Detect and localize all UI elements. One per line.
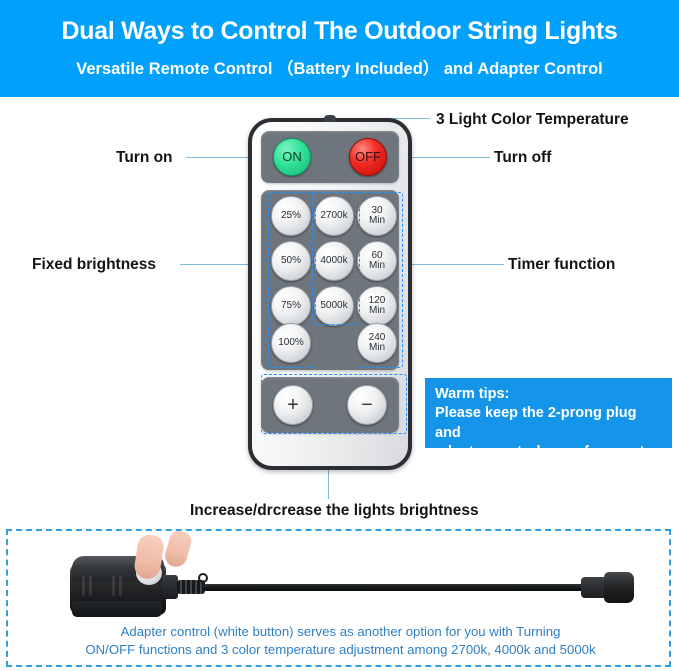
adapter-hang-loop: [198, 573, 208, 583]
timer-button-60min[interactable]: 60 Min: [357, 241, 397, 281]
warm-tips-line-2: adapter control away from water.: [435, 443, 663, 462]
callout-turn-on: Turn on: [116, 150, 173, 166]
timer-unit: Min: [369, 215, 385, 226]
callout-turn-off: Turn off: [494, 150, 551, 166]
adapter-rib: [112, 576, 115, 596]
callout-brightness-adjust: Increase/drcrease the lights brightness: [190, 503, 479, 519]
callout-fixed-brightness: Fixed brightness: [32, 257, 156, 273]
adapter-rib: [119, 576, 122, 596]
adapter-caption: Adapter control (white button) serves as…: [8, 623, 673, 659]
ir-emitter-icon: [324, 115, 336, 122]
warm-tips-box: Warm tips: Please keep the 2-prong plug …: [425, 378, 672, 448]
on-button[interactable]: ON: [273, 138, 311, 176]
adapter-cable: [203, 584, 601, 591]
adapter-rib: [82, 576, 85, 596]
finger-secondary: [162, 529, 193, 570]
adapter-section: Adapter control (white button) serves as…: [6, 529, 671, 667]
adapter-caption-line-1: Adapter control (white button) serves as…: [8, 623, 673, 641]
timer-unit: Min: [369, 305, 385, 316]
remote-control: ON OFF 25% 50% 75% 100% 2700k 4000k 5000…: [248, 118, 412, 470]
color-temp-button-5000k[interactable]: 5000k: [314, 286, 354, 326]
brightness-button-25[interactable]: 25%: [271, 196, 311, 236]
timer-button-240min[interactable]: 240 Min: [357, 323, 397, 363]
page-title: Dual Ways to Control The Outdoor String …: [0, 0, 679, 44]
header-banner: Dual Ways to Control The Outdoor String …: [0, 0, 679, 97]
adapter-cable-neck: [162, 575, 178, 599]
leader-line-timer-function: [400, 264, 504, 265]
increase-button[interactable]: +: [273, 385, 313, 425]
timer-unit: Min: [369, 260, 385, 271]
color-temp-button-2700k[interactable]: 2700k: [314, 196, 354, 236]
function-panel: 25% 50% 75% 100% 2700k 4000k 5000k 30 Mi…: [261, 190, 399, 370]
adapter-connector-plug: [604, 572, 634, 603]
brightness-button-75[interactable]: 75%: [271, 286, 311, 326]
callout-color-temperature: 3 Light Color Temperature: [436, 112, 629, 128]
warm-tips-heading: Warm tips:: [435, 385, 663, 404]
timer-button-30min[interactable]: 30 Min: [357, 196, 397, 236]
color-temp-button-4000k[interactable]: 4000k: [314, 241, 354, 281]
adapter-caption-line-2: ON/OFF functions and 3 color temperature…: [8, 641, 673, 659]
warm-tips-line-1: Please keep the 2-prong plug and: [435, 404, 663, 443]
adapter-rib: [89, 576, 92, 596]
power-panel: ON OFF: [261, 131, 399, 183]
brightness-button-50[interactable]: 50%: [271, 241, 311, 281]
callout-timer-function: Timer function: [508, 257, 615, 273]
adapter-photo: [48, 539, 648, 625]
off-button[interactable]: OFF: [349, 138, 387, 176]
timer-unit: Min: [369, 342, 385, 353]
adapter-base: [72, 601, 162, 617]
infographic-canvas: Dual Ways to Control The Outdoor String …: [0, 0, 679, 671]
brightness-button-100[interactable]: 100%: [271, 323, 311, 363]
page-subtitle: Versatile Remote Control （Battery Includ…: [0, 44, 679, 78]
brightness-adjust-panel: + −: [261, 377, 399, 433]
decrease-button[interactable]: −: [347, 385, 387, 425]
timer-button-120min[interactable]: 120 Min: [357, 286, 397, 326]
